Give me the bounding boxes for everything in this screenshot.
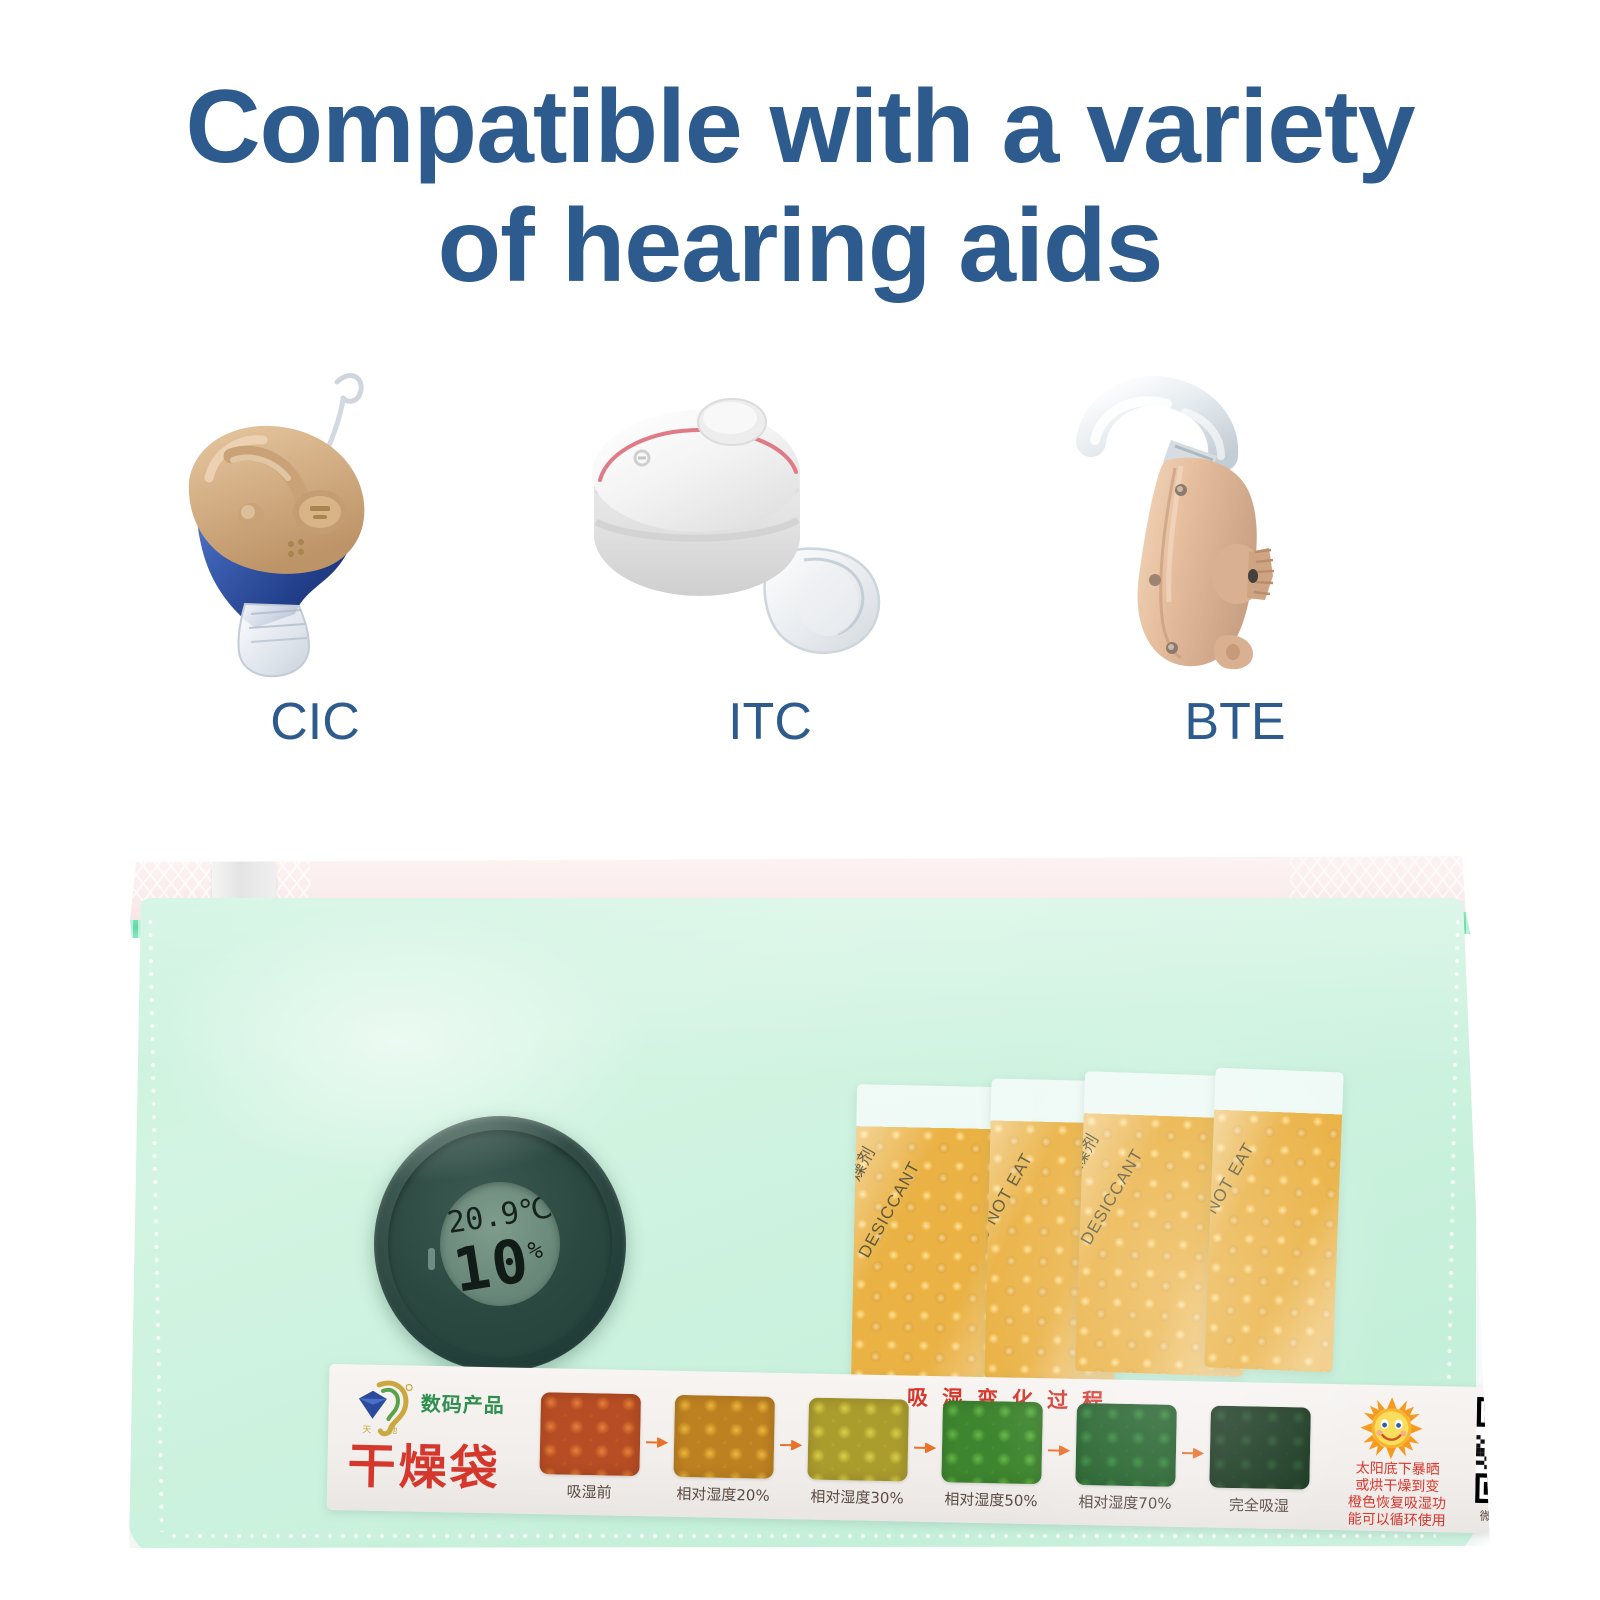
qr-zone: 微信扫码了解更多: [1475, 1397, 1538, 1529]
swatch-item: 相对湿度70%: [1075, 1403, 1177, 1487]
swatch-caption: 相对湿度20%: [661, 1483, 785, 1506]
device-label-itc: ITC: [560, 692, 980, 752]
device-card-cic: CIC: [105, 360, 525, 790]
swatch-color-chip: [1075, 1403, 1177, 1487]
brand-sub-label: 数码产品: [421, 1388, 506, 1419]
product-image-canvas: Compatible with a variety of hearing aid…: [0, 0, 1600, 1600]
swatch-caption: 相对湿度30%: [795, 1485, 919, 1508]
hygrometer-humidity-value: 10: [449, 1226, 535, 1306]
cic-hearing-aid-icon: [105, 360, 525, 690]
sun-instruction-text: 太阳底下暴晒 或烘干燥到变 橙色恢复吸湿功 能可以循环使用: [1326, 1460, 1467, 1531]
swatch-color-chip: [673, 1395, 775, 1479]
swatch-caption: 相对湿度70%: [1063, 1491, 1187, 1514]
swatch-caption: 相对湿度50%: [929, 1488, 1053, 1511]
page-title-line-1: Compatible with a variety: [185, 69, 1414, 185]
swatch-item: 相对湿度50%: [941, 1400, 1043, 1484]
bte-hearing-aid-icon: [1025, 360, 1445, 690]
humidity-indicator-label-card: 天 驰 数码产品 干燥袋 吸湿变化过程 吸湿前: [327, 1364, 1538, 1534]
sun-instruction-line: 能可以循环使用: [1326, 1511, 1466, 1531]
device-card-itc: ITC: [560, 360, 980, 790]
itc-hearing-aid-icon: [560, 360, 980, 690]
swatch-color-chip: [539, 1392, 641, 1476]
sun-icon: [1360, 1397, 1423, 1460]
swatch-caption: 吸湿前: [527, 1480, 651, 1503]
swatch-caption: 完全吸湿: [1197, 1493, 1321, 1516]
hearing-aid-gallery: CIC: [0, 360, 1600, 790]
device-card-bte: BTE: [1025, 360, 1445, 790]
swatch-item: 相对湿度20%: [673, 1395, 775, 1479]
arrow-right-icon: [1048, 1442, 1070, 1452]
brand-logo-zone: 天 驰 数码产品 干燥袋: [345, 1372, 538, 1506]
hygrometer-bezel: 20.9℃ 10%: [388, 1130, 612, 1358]
swatch-color-chip: [807, 1398, 909, 1482]
brand-main-label: 干燥袋: [347, 1426, 501, 1499]
bag-body: 20.9℃ 10% 吸湿干燥剂 DESICCANT 不可食用: [128, 898, 1476, 1558]
device-label-cic: CIC: [105, 692, 525, 752]
arrow-right-icon: [914, 1440, 936, 1450]
qr-code-icon[interactable]: [1475, 1397, 1537, 1505]
page-title-line-2: of hearing aids: [0, 187, 1600, 306]
humidity-swatch-row: 吸湿前 相对湿度20% 相对湿度30%: [539, 1392, 1311, 1525]
page-title: Compatible with a variety of hearing aid…: [0, 68, 1600, 305]
device-label-bte: BTE: [1025, 692, 1445, 752]
arrow-right-icon: [646, 1434, 668, 1444]
drying-bag-photo: 20.9℃ 10% 吸湿干燥剂 DESICCANT 不可食用: [0, 840, 1600, 1570]
hygrometer-lcd-screen: 20.9℃ 10%: [440, 1182, 560, 1306]
arrow-right-icon: [780, 1437, 802, 1447]
bag-seam-left: [144, 916, 168, 1532]
desiccant-packet: 不可食用 DO NOT EAT: [1204, 1068, 1343, 1373]
swatch-color-chip: [1209, 1406, 1311, 1490]
hygrometer: 20.9℃ 10%: [374, 1116, 626, 1372]
swatch-item: 完全吸湿: [1209, 1406, 1311, 1490]
swatch-item: 吸湿前: [539, 1392, 641, 1476]
arrow-right-icon: [1182, 1445, 1204, 1455]
sun-instruction-zone: 太阳底下暴晒 或烘干燥到变 橙色恢复吸湿功 能可以循环使用: [1327, 1394, 1470, 1527]
qr-caption: 微信扫码了解更多: [1465, 1507, 1538, 1527]
swatch-item: 相对湿度30%: [807, 1398, 909, 1482]
zipper-texture-right: [1290, 856, 1470, 900]
hygrometer-humidity-unit: %: [526, 1235, 547, 1265]
swatch-color-chip: [941, 1400, 1043, 1484]
hygrometer-notch: [428, 1248, 435, 1270]
bag-seam-bottom: [168, 1530, 1436, 1542]
